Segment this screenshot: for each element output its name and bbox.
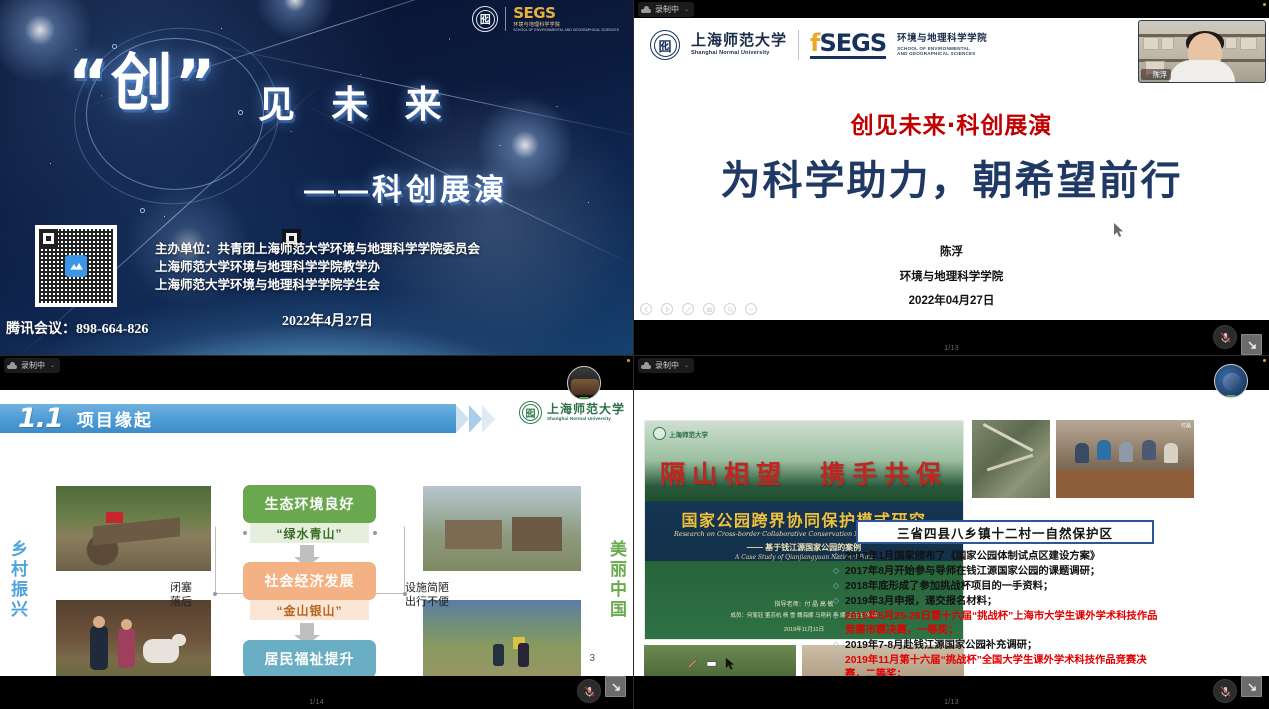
poster-calligraphy: 隔山相望 携手共保 — [645, 455, 963, 491]
university-name-block: 上海师范大学 Shanghai Normal University — [691, 33, 787, 57]
mic-muted-icon — [1219, 331, 1232, 344]
caption-right-line2: 出行不便 — [405, 596, 449, 610]
highlight-box: 三省四县八乡镇十二村一自然保护区 — [856, 520, 1154, 544]
poster-background: 囮 SEGS 环境与地理科学学院 SCHOOL OF ENVIRONMENTAL… — [0, 0, 633, 355]
organizer-line-2: 上海师范大学环境与地理科学学院教学办 — [155, 258, 480, 276]
flow-arrow-1 — [300, 545, 314, 557]
photo-mountain-trek — [423, 600, 581, 676]
slide-number: 3 — [589, 653, 595, 664]
camera-button[interactable] — [703, 303, 715, 315]
slide-canvas: 上海师范大学 隔山相望 携手共保 国家公园跨界协同保护模式研究 Research… — [634, 390, 1269, 676]
flow-box-2: 社会经济发展 — [243, 562, 376, 600]
poster-university-name: 上海师范大学 — [669, 429, 708, 439]
university-seal-icon: 囮 — [650, 30, 680, 60]
diamond-bullet-icon: ◇ — [832, 656, 840, 664]
connector-right — [375, 526, 405, 594]
list-item: ◇2017年1月国家颁布了《国家公园体制试点区建设方案》 — [832, 550, 1162, 564]
university-name-cn: 上海师范大学 — [547, 403, 625, 416]
mic-muted-icon — [583, 685, 596, 698]
speaker-department: 环境与地理科学学院 — [634, 268, 1269, 284]
list-item: ◇2018年底形成了参加挑战杯项目的一手资料； — [832, 580, 1162, 594]
slide-headline: 为科学助力，朝希望前行 — [634, 148, 1269, 206]
webcam-thumbnail[interactable]: 陈浮 — [1138, 20, 1266, 83]
cloud-icon — [641, 6, 651, 13]
university-seal-icon: 囮 — [519, 401, 542, 424]
chevron-shape — [482, 405, 495, 433]
back-button[interactable] — [640, 303, 652, 315]
list-item-text: 2019年3月申报，递交报名材料； — [845, 595, 997, 609]
collapse-button[interactable] — [1241, 334, 1262, 355]
photo-person-label: 付晶 — [1181, 422, 1191, 429]
list-item: ◇2019年7-8月赴钱江源国家公园补充调研； — [832, 639, 1162, 653]
segs-chinese-block: 环境与地理科学学院 SCHOOL OF ENVIRONMENTAL AND GE… — [897, 34, 987, 57]
flow-box-1: 生态环境良好 — [243, 485, 376, 523]
mute-microphone-button[interactable] — [1213, 325, 1237, 349]
caption-left-line2: 落后 — [170, 596, 192, 610]
recording-indicator[interactable]: 录制中 ⌄ — [638, 358, 694, 373]
segs-en-line2: AND GEOGRAPHICAL SCIENCES — [897, 51, 987, 56]
slide-eyebrow: 创见未来·科创展演 — [634, 106, 1269, 140]
section-number: 1.1 — [18, 403, 63, 434]
collapse-arrow-icon — [1246, 339, 1258, 351]
slide-toolbar[interactable] — [640, 303, 757, 315]
slide-canvas: 1.1 项目缘起 囮 上海师范大学 Shanghai Normal Univer… — [0, 390, 633, 676]
shelf-box — [1161, 37, 1174, 50]
chevron-down-icon[interactable]: ⌄ — [50, 363, 55, 369]
section-title: 项目缘起 — [77, 406, 153, 431]
chevron-shape — [469, 405, 482, 433]
panel-poster-slide[interactable]: 囮 SEGS 环境与地理科学学院 SCHOOL OF ENVIRONMENTAL… — [0, 0, 634, 355]
qr-finder — [39, 229, 58, 248]
caption-left: 闭塞 落后 — [170, 582, 192, 610]
seal-glyph: 囮 — [651, 31, 679, 59]
webcam-name-text: 陈浮 — [1153, 70, 1167, 80]
segs-letters: SEGS — [819, 29, 886, 57]
collapse-button[interactable] — [605, 676, 626, 697]
slide-logo-row: 囮 上海师范大学 Shanghai Normal University fSEG… — [650, 30, 987, 60]
diamond-bullet-icon: ◇ — [832, 641, 840, 649]
photo-satellite-view — [972, 420, 1050, 498]
mute-microphone-button[interactable] — [1213, 679, 1237, 703]
list-item: ◇2017年8月开始参与导师在钱江源国家公园的课题调研； — [832, 565, 1162, 579]
diamond-bullet-icon: ◇ — [832, 567, 840, 575]
shelf-box — [1225, 37, 1237, 49]
chevron-down-icon[interactable]: ⌄ — [684, 363, 689, 369]
flow-box-3: 居民福祉提升 — [243, 640, 376, 676]
meeting-id-label: 腾讯会议：898-664-826 — [6, 318, 148, 338]
caption-right-line1: 设施简陋 — [405, 582, 449, 596]
chevron-shape — [456, 405, 469, 433]
photo-village — [56, 486, 211, 571]
poster-university-mark: 上海师范大学 — [653, 427, 708, 440]
logo-divider — [505, 7, 506, 31]
status-dot — [1263, 359, 1266, 362]
segs-logo: SEGS 环境与地理科学学院 SCHOOL OF ENVIRONMENTAL A… — [513, 6, 619, 32]
list-item: ◇2019年3月申报，递交报名材料； — [832, 595, 1162, 609]
recording-label: 录制中 — [655, 362, 679, 370]
list-item-text: 2019年7-8月赴钱江源国家公园补充调研； — [845, 639, 1037, 653]
minus-button[interactable] — [745, 303, 757, 315]
side-label-left: 乡村振兴 — [5, 540, 30, 620]
connector-dot — [213, 592, 217, 596]
eraser-icon — [705, 657, 718, 670]
side-label-right: 美丽中国 — [604, 540, 629, 620]
status-dot — [1263, 3, 1266, 6]
chevron-down-icon[interactable]: ⌄ — [684, 7, 689, 13]
play-button[interactable] — [661, 303, 673, 315]
webcam-name-label: 陈浮 — [1141, 69, 1171, 80]
list-item-text: 2018年底形成了参加挑战杯项目的一手资料； — [845, 580, 1053, 594]
photo-children-goat — [56, 600, 211, 676]
page-counter: 1/13 — [634, 699, 1269, 706]
list-item: ◇2019年11月第十六届“挑战杯”全国大学生课外学术科技作品竞赛决赛，二等奖； — [832, 654, 1162, 676]
flow-sub-2: “金山银山” — [250, 600, 369, 620]
connector-dot — [373, 531, 377, 535]
diamond-bullet-icon: ◇ — [832, 597, 840, 605]
pen-icon — [686, 657, 699, 670]
collapse-arrow-icon — [610, 681, 622, 693]
participant-avatar[interactable]: 高严敏 — [567, 366, 601, 400]
seal-glyph: 囮 — [473, 7, 497, 31]
tencent-meeting-logo-icon — [65, 255, 87, 277]
shelf-box — [1143, 37, 1159, 50]
connector-dot — [243, 531, 247, 535]
pointer-cursor-icon — [724, 657, 737, 670]
poster-date: 2022年4月27日 — [282, 310, 373, 330]
university-seal-icon — [653, 427, 666, 440]
collapse-button[interactable] — [1241, 676, 1262, 697]
qr-modules — [39, 229, 113, 303]
avatar-image — [1223, 373, 1241, 391]
university-name-block: 上海师范大学 Shanghai Normal University — [547, 403, 625, 421]
segs-word: fSEGS — [810, 31, 886, 55]
page-counter: 1/13 — [634, 345, 1269, 352]
zoom-button[interactable] — [724, 303, 736, 315]
status-dot — [627, 359, 630, 362]
university-name-cn: 上海师范大学 — [691, 33, 787, 49]
top-black-bar — [634, 356, 1269, 390]
university-name-en: Shanghai Normal University — [691, 51, 787, 57]
panel-title-slide[interactable]: 录制中 ⌄ 囮 上海师范大学 Shanghai Normal Universit… — [634, 0, 1269, 355]
organizer-line-1: 主办单位：共青团上海师范大学环境与地理科学学院委员会 — [155, 240, 480, 258]
annotation-tools[interactable] — [686, 657, 737, 670]
banner-chevrons — [456, 404, 495, 433]
ring-dot — [238, 110, 243, 115]
recording-grid: 囮 SEGS 环境与地理科学学院 SCHOOL OF ENVIRONMENTAL… — [0, 0, 1269, 709]
photo-houses — [423, 486, 581, 571]
poster-title-quote: “创” — [68, 52, 218, 114]
flow-sub-1: “绿水青山” — [250, 523, 369, 543]
segs-cn-label: 环境与地理科学学院 — [897, 34, 987, 44]
avatar-image — [571, 379, 599, 395]
top-black-bar — [0, 356, 633, 390]
collapse-arrow-icon — [1246, 681, 1258, 693]
section-banner: 1.1 项目缘起 — [0, 404, 456, 433]
panel-research-poster-slide[interactable]: 录制中 ⌄ 上海师范大学 隔山相望 携手共保 国家公园跨界协同保护模式研究 Re… — [634, 355, 1269, 709]
mic-muted-icon — [1219, 685, 1232, 698]
ring-dot — [140, 208, 145, 213]
university-name-en: Shanghai Normal University — [547, 417, 625, 422]
avatar-pointer — [1226, 395, 1236, 398]
university-seal-icon: 囮 — [472, 6, 498, 32]
avatar-body — [1169, 60, 1235, 82]
flow-arrow-2 — [300, 623, 314, 635]
pen-button[interactable] — [682, 303, 694, 315]
diamond-bullet-icon: ◇ — [832, 582, 840, 590]
bullet-list: ◇2017年1月国家颁布了《国家公园体制试点区建设方案》 ◇2017年8月开始参… — [832, 550, 1162, 676]
speaker-name: 陈浮 — [634, 243, 1269, 259]
segs-wordmark: fSEGS — [810, 31, 886, 59]
recording-indicator[interactable]: 录制中 ⌄ — [638, 2, 694, 17]
cloud-icon — [7, 362, 17, 369]
list-item-text: 2017年8月开始参与导师在钱江源国家公园的课题调研； — [845, 565, 1100, 579]
qr-code[interactable] — [35, 225, 117, 307]
list-item-text: 2019年11月第十六届“挑战杯”全国大学生课外学术科技作品竞赛决赛，二等奖； — [845, 654, 1162, 676]
organizer-block: 主办单位：共青团上海师范大学环境与地理科学学院委员会 上海师范大学环境与地理科学… — [155, 240, 480, 294]
poster-title-rest: 见 未 来 — [258, 86, 455, 123]
caption-right: 设施简陋 出行不便 — [405, 582, 449, 610]
list-item: ◇2019年5月25-26日第十六届“挑战杯”上海市大学生课外学术科技作品竞赛市… — [832, 610, 1162, 637]
segs-en-label: SCHOOL OF ENVIRONMENTAL AND GEOGRAPHICAL… — [513, 29, 619, 32]
page-counter: 1/14 — [0, 699, 633, 706]
shelf-box — [1240, 37, 1257, 50]
recording-label: 录制中 — [21, 362, 45, 370]
caption-left-line1: 闭塞 — [170, 582, 192, 596]
diamond-bullet-icon: ◇ — [832, 552, 840, 560]
poster-subtitle: ——科创展演 — [304, 176, 508, 206]
logo-divider — [798, 30, 799, 60]
photo-meeting-room: 付晶 — [1056, 420, 1194, 498]
participant-avatar[interactable]: 付晶 — [1214, 364, 1248, 398]
top-black-bar — [634, 0, 1269, 18]
university-mark: 囮 上海师范大学 Shanghai Normal University — [519, 401, 625, 424]
organizer-line-3: 上海师范大学环境与地理科学学院学生会 — [155, 276, 480, 294]
mouse-cursor — [1114, 223, 1125, 238]
mute-microphone-button[interactable] — [577, 679, 601, 703]
connector-left — [215, 526, 245, 594]
seal-glyph: 囮 — [520, 402, 541, 423]
cloud-icon — [641, 362, 651, 369]
recording-label: 录制中 — [655, 6, 679, 14]
panel-project-origin-slide[interactable]: 录制中 ⌄ 1.1 项目缘起 囮 上海师范大学 Shanghai Normal … — [0, 355, 634, 709]
poster-logo-group: 囮 SEGS 环境与地理科学学院 SCHOOL OF ENVIRONMENTAL… — [472, 6, 619, 32]
avatar-pointer — [579, 397, 589, 400]
mic-icon — [1145, 71, 1150, 78]
recording-indicator[interactable]: 录制中 ⌄ — [4, 358, 60, 373]
diamond-bullet-icon: ◇ — [832, 612, 840, 620]
list-item-text: 2019年5月25-26日第十六届“挑战杯”上海市大学生课外学术科技作品竞赛市赛… — [845, 610, 1162, 637]
list-item-text: 2017年1月国家颁布了《国家公园体制试点区建设方案》 — [845, 550, 1100, 564]
segs-word: SEGS — [513, 6, 619, 21]
